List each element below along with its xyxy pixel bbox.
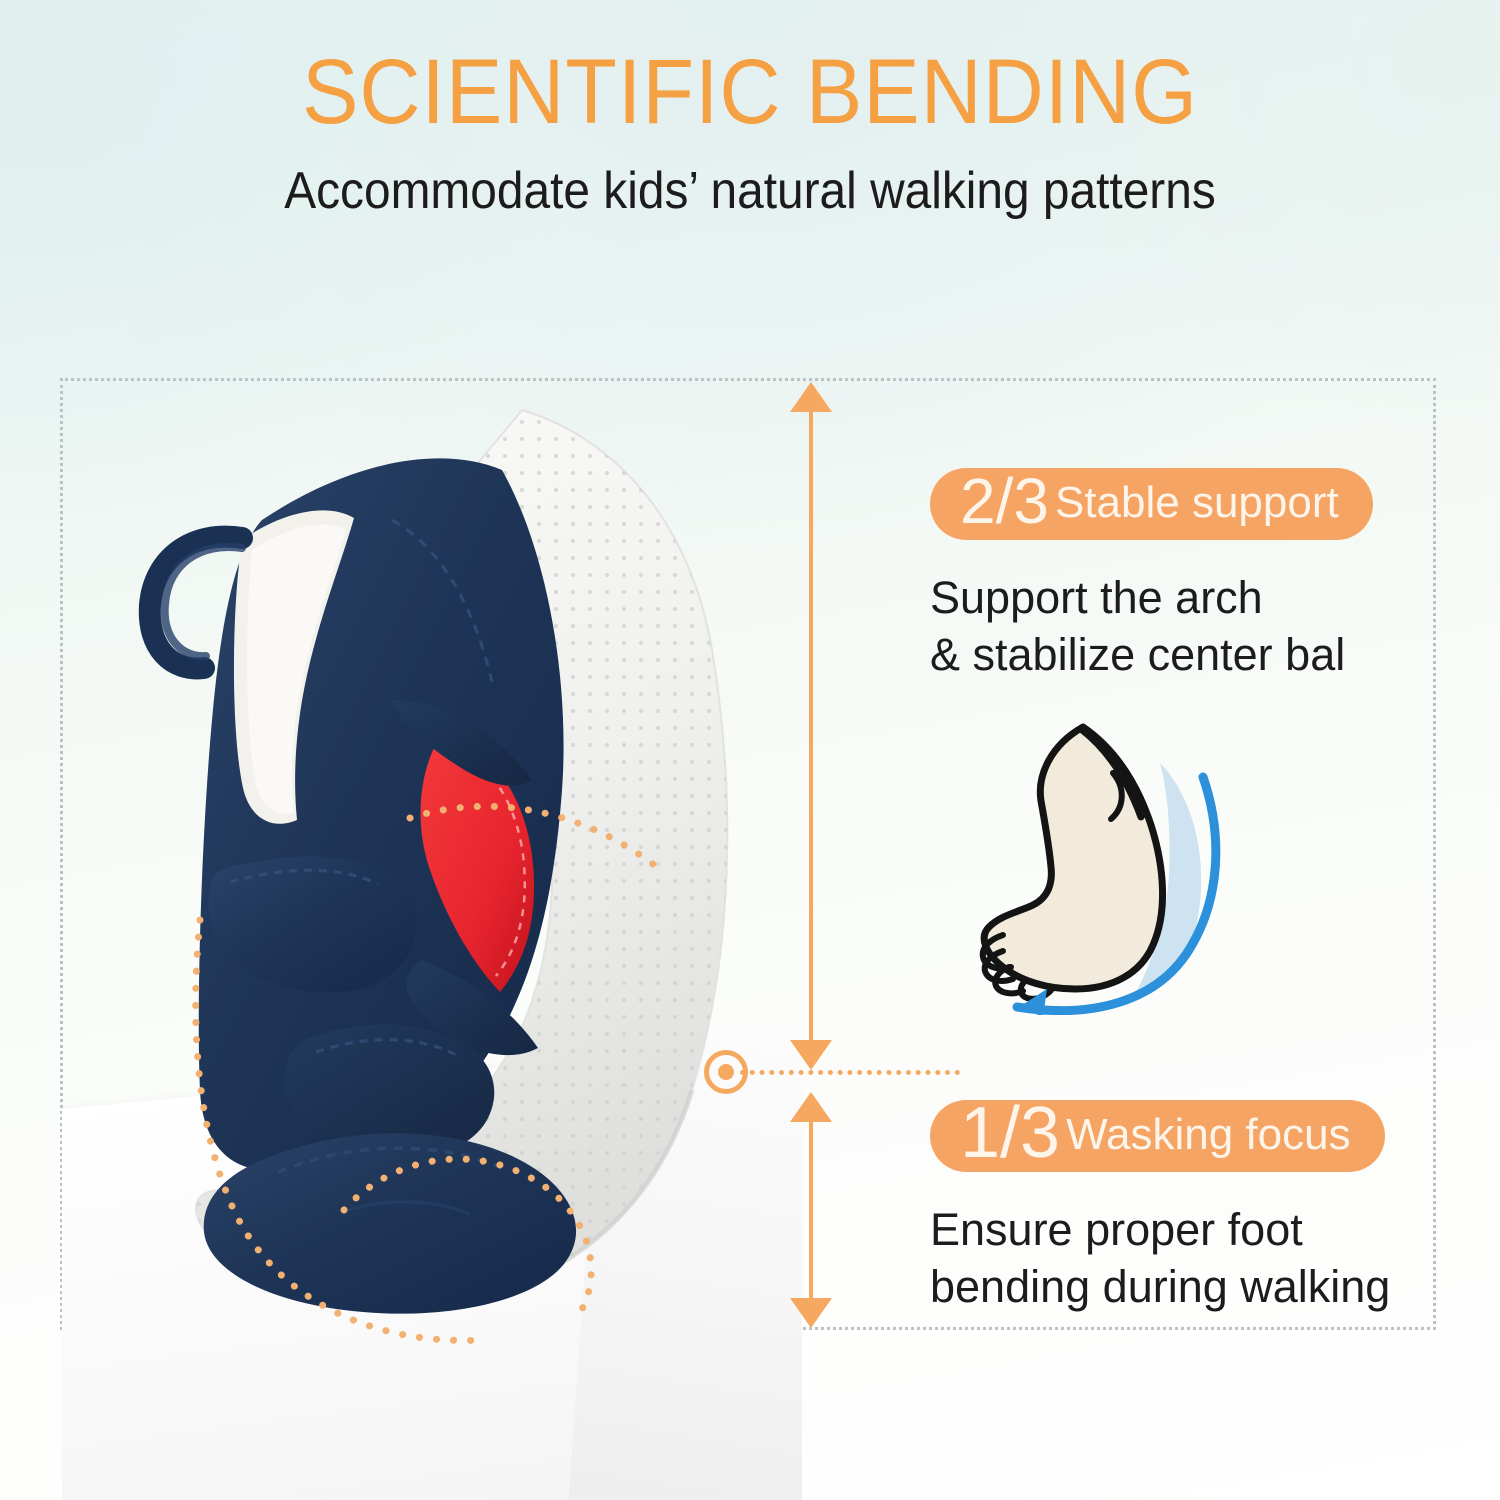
callout-description-walking-focus: Ensure proper foot bending during walkin… — [930, 1202, 1470, 1315]
callout-fraction-walking-focus: 1/3 — [960, 1093, 1060, 1173]
callout-label-stable-support: Stable support — [1055, 478, 1339, 527]
page-title: SCIENTIFIC BENDING — [60, 0, 1440, 138]
infographic-canvas: SCIENTIFIC BENDING Accommodate kids’ nat… — [0, 0, 1500, 1500]
flex-point-marker — [704, 1050, 748, 1094]
product-photo — [62, 380, 802, 1500]
bending-foot-icon — [955, 705, 1255, 1015]
one-third-arrow-head-top — [790, 1092, 832, 1122]
split-point-divider — [740, 1070, 960, 1075]
two-thirds-arrow-head-top — [790, 382, 832, 412]
shoe-illustration — [92, 400, 792, 1340]
callout-stable-support: 2/3Stable support Support the arch & sta… — [930, 468, 1470, 683]
two-thirds-arrow-head-bottom — [790, 1040, 832, 1070]
callout-label-walking-focus: Wasking focus — [1066, 1110, 1350, 1159]
callout-pill-stable-support: 2/3Stable support — [930, 468, 1373, 540]
callout-fraction-stable-support: 2/3 — [960, 465, 1049, 537]
one-third-height-arrow — [809, 1120, 813, 1300]
page-subtitle: Accommodate kids’ natural walking patter… — [60, 138, 1440, 219]
callout-walking-focus: 1/3Wasking focus Ensure proper foot bend… — [930, 1100, 1470, 1315]
callout-description-stable-support: Support the arch & stabilize center bal — [930, 570, 1470, 683]
header: SCIENTIFIC BENDING Accommodate kids’ nat… — [0, 0, 1500, 219]
one-third-arrow-head-bottom — [790, 1298, 832, 1328]
two-thirds-height-arrow — [809, 410, 813, 1050]
callout-pill-walking-focus: 1/3Wasking focus — [930, 1100, 1385, 1172]
